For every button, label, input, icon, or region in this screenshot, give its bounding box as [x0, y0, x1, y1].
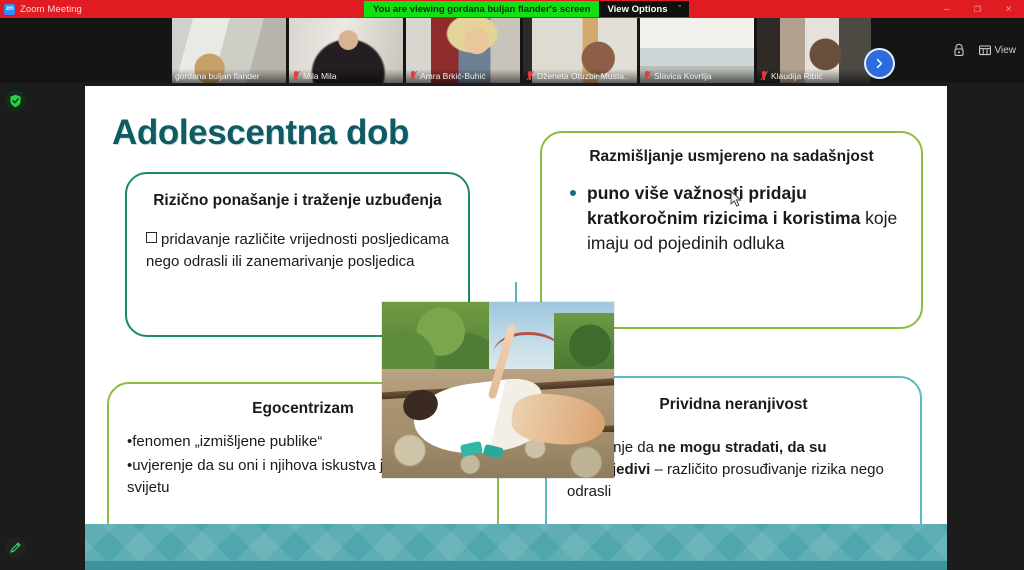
participant-tile[interactable]: Slavica Kovrlija — [640, 18, 754, 83]
security-lock-button[interactable] — [953, 43, 965, 57]
view-options-label: View Options — [607, 4, 667, 15]
shield-status-button[interactable] — [5, 90, 26, 111]
participant-name: Mila Mila — [303, 71, 337, 81]
participant-tile[interactable]: Mila Mila — [289, 18, 403, 83]
participant-label: Amra Brkić-Buhić — [406, 69, 520, 83]
minimize-button[interactable]: – — [931, 0, 962, 18]
participant-tile[interactable]: Amra Brkić-Buhić — [406, 18, 520, 83]
next-participants-button[interactable] — [866, 50, 893, 77]
grid-view-icon — [979, 45, 991, 56]
maximize-button[interactable]: ❐ — [962, 0, 993, 18]
participant-label: Slavica Kovrlija — [640, 69, 754, 83]
meeting-top-controls: View — [953, 36, 1017, 64]
lock-shield-icon — [953, 43, 965, 57]
participant-name: Slavica Kovrlija — [654, 71, 712, 81]
participant-tile[interactable]: Dženeta Otuzbir Musta.. — [523, 18, 637, 83]
zoom-logo-icon: zm — [4, 4, 15, 15]
participant-name: Klaudija Ribić — [771, 71, 823, 81]
window-controls: – ❐ × — [931, 0, 1024, 18]
participant-label: gordana buljan flander — [172, 69, 286, 83]
card-body: pridavanje različite vrijednosti posljed… — [146, 229, 449, 273]
card-heading: Prividna neranjivost — [567, 394, 900, 415]
participant-name: Amra Brkić-Buhić — [420, 71, 486, 81]
card-heading: Rizično ponašanje i traženje uzbuđenja — [146, 190, 449, 211]
screen-share-status-bar: You are viewing gordana buljan flander's… — [364, 1, 689, 17]
mic-muted-icon — [292, 71, 300, 81]
card-paragraph: puno više važnosti pridaju kratkoročnim … — [587, 181, 901, 256]
participant-label: Dženeta Otuzbir Musta.. — [523, 69, 637, 83]
participant-label: Mila Mila — [289, 69, 403, 83]
band-base — [85, 561, 947, 570]
shield-check-icon — [9, 94, 22, 108]
slide-photo — [382, 302, 614, 478]
shared-slide: Adolescentna dob Rizično ponašanje i tra… — [85, 86, 947, 570]
view-label: View — [995, 45, 1017, 56]
slide-title: Adolescentna dob — [112, 113, 409, 153]
card-paragraph: •uvjerenje da ne mogu stradati, da su ne… — [567, 437, 900, 503]
meeting-stage: gordana buljan flander Mila Mila — [0, 18, 1024, 570]
window-title: Zoom Meeting — [20, 4, 82, 15]
card-body: •uvjerenje da ne mogu stradati, da su ne… — [567, 437, 900, 503]
participant-thumbnails: gordana buljan flander Mila Mila — [172, 18, 874, 83]
mic-muted-icon — [526, 71, 534, 81]
participant-label: Klaudija Ribić — [757, 69, 871, 83]
mic-muted-icon — [760, 71, 768, 81]
viewing-screen-banner: You are viewing gordana buljan flander's… — [364, 1, 599, 17]
annotate-tool-button[interactable] — [5, 537, 26, 558]
square-bullet-icon — [146, 232, 157, 243]
mic-muted-icon — [643, 71, 651, 81]
bullet-bold-text: puno više važnosti pridaju kratkoročnim … — [587, 183, 860, 228]
bullet-dot-icon — [570, 190, 576, 196]
title-bar-left: zm Zoom Meeting — [0, 4, 204, 15]
pencil-annotate-icon — [9, 541, 22, 554]
participant-name: Dženeta Otuzbir Musta.. — [537, 71, 629, 81]
chevron-down-icon: ˇ — [679, 6, 681, 13]
card-present-oriented-thinking: Razmišljanje usmjereno na sadašnjost pun… — [540, 131, 923, 329]
participant-tile[interactable]: Klaudija Ribić — [757, 18, 871, 83]
view-layout-button[interactable]: View — [979, 45, 1017, 56]
chevron-right-icon — [874, 58, 885, 69]
mic-muted-icon — [409, 71, 417, 81]
slide-decorative-band — [85, 524, 947, 570]
participant-name: gordana buljan flander — [175, 71, 260, 81]
participant-tile[interactable]: gordana buljan flander — [172, 18, 286, 83]
participant-filmstrip: gordana buljan flander Mila Mila — [0, 18, 1024, 83]
mouse-cursor — [730, 190, 742, 208]
view-options-button[interactable]: View Options ˇ — [599, 1, 688, 17]
close-button[interactable]: × — [993, 0, 1024, 18]
card-heading: Razmišljanje usmjereno na sadašnjost — [562, 146, 901, 167]
window-title-bar: zm Zoom Meeting You are viewing gordana … — [0, 0, 1024, 18]
card-paragraph: pridavanje različite vrijednosti posljed… — [146, 229, 449, 273]
